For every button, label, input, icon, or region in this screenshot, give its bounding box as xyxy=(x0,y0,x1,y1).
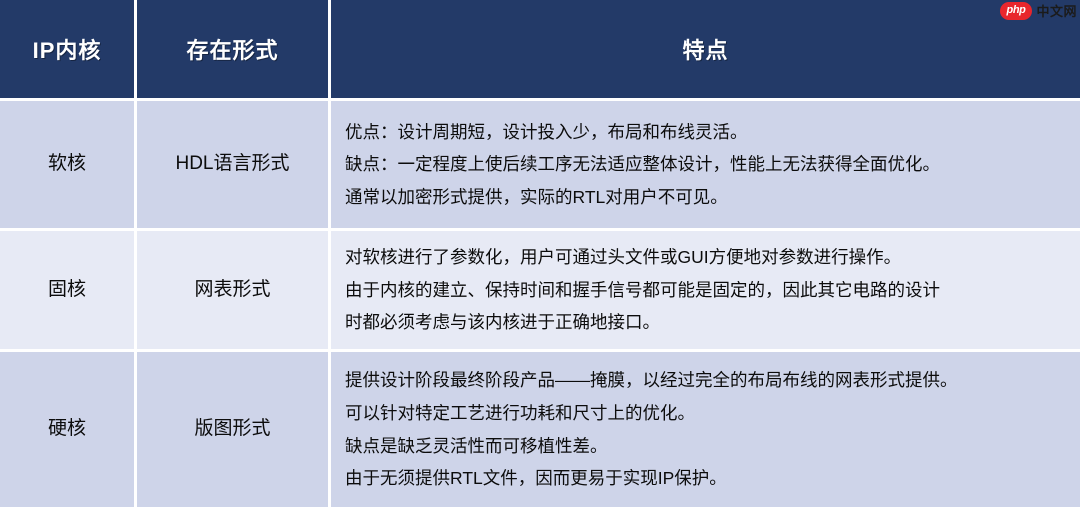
header-cell-form: 存在形式 xyxy=(137,0,331,101)
feature-line: 对软核进行了参数化，用户可通过头文件或GUI方便地对参数进行操作。 xyxy=(345,241,1066,274)
page-root: php 中文网 IP内核 存在形式 特点 软核 HDL语言形式 优点：设计周期短… xyxy=(0,0,1080,521)
cell-core-name: 硬核 xyxy=(0,352,137,510)
table-row: 硬核 版图形式 提供设计阶段最终阶段产品——掩膜，以经过完全的布局布线的网表形式… xyxy=(0,352,1080,510)
feature-line: 缺点：一定程度上使后续工序无法适应整体设计，性能上无法获得全面优化。 xyxy=(345,148,1066,181)
feature-line: 缺点是缺乏灵活性而可移植性差。 xyxy=(345,430,1066,463)
feature-line: 可以针对特定工艺进行功耗和尺寸上的优化。 xyxy=(345,397,1066,430)
feature-line: 由于无须提供RTL文件，因而更易于实现IP保护。 xyxy=(345,462,1066,495)
cell-core-features: 对软核进行了参数化，用户可通过头文件或GUI方便地对参数进行操作。 由于内核的建… xyxy=(331,231,1080,352)
table-header: IP内核 存在形式 特点 xyxy=(0,0,1080,101)
table-row: 软核 HDL语言形式 优点：设计周期短，设计投入少，布局和布线灵活。 缺点：一定… xyxy=(0,101,1080,231)
header-row: IP内核 存在形式 特点 xyxy=(0,0,1080,101)
feature-line: 通常以加密形式提供，实际的RTL对用户不可见。 xyxy=(345,181,1066,214)
cell-core-name: 软核 xyxy=(0,101,137,231)
header-cell-ip-core: IP内核 xyxy=(0,0,137,101)
cell-core-form: 网表形式 xyxy=(137,231,331,352)
header-cell-features: 特点 xyxy=(331,0,1080,101)
table-body: 软核 HDL语言形式 优点：设计周期短，设计投入少，布局和布线灵活。 缺点：一定… xyxy=(0,101,1080,510)
cell-core-form: 版图形式 xyxy=(137,352,331,510)
cell-core-features: 提供设计阶段最终阶段产品——掩膜，以经过完全的布局布线的网表形式提供。 可以针对… xyxy=(331,352,1080,510)
feature-line: 优点：设计周期短，设计投入少，布局和布线灵活。 xyxy=(345,116,1066,149)
feature-line: 由于内核的建立、保持时间和握手信号都可能是固定的，因此其它电路的设计 xyxy=(345,274,1066,307)
cell-core-form: HDL语言形式 xyxy=(137,101,331,231)
cell-core-features: 优点：设计周期短，设计投入少，布局和布线灵活。 缺点：一定程度上使后续工序无法适… xyxy=(331,101,1080,231)
cell-core-name: 固核 xyxy=(0,231,137,352)
table-row: 固核 网表形式 对软核进行了参数化，用户可通过头文件或GUI方便地对参数进行操作… xyxy=(0,231,1080,352)
ip-core-comparison-table: IP内核 存在形式 特点 软核 HDL语言形式 优点：设计周期短，设计投入少，布… xyxy=(0,0,1080,510)
feature-line: 时都必须考虑与该内核进于正确地接口。 xyxy=(345,306,1066,339)
feature-line: 提供设计阶段最终阶段产品——掩膜，以经过完全的布局布线的网表形式提供。 xyxy=(345,364,1066,397)
